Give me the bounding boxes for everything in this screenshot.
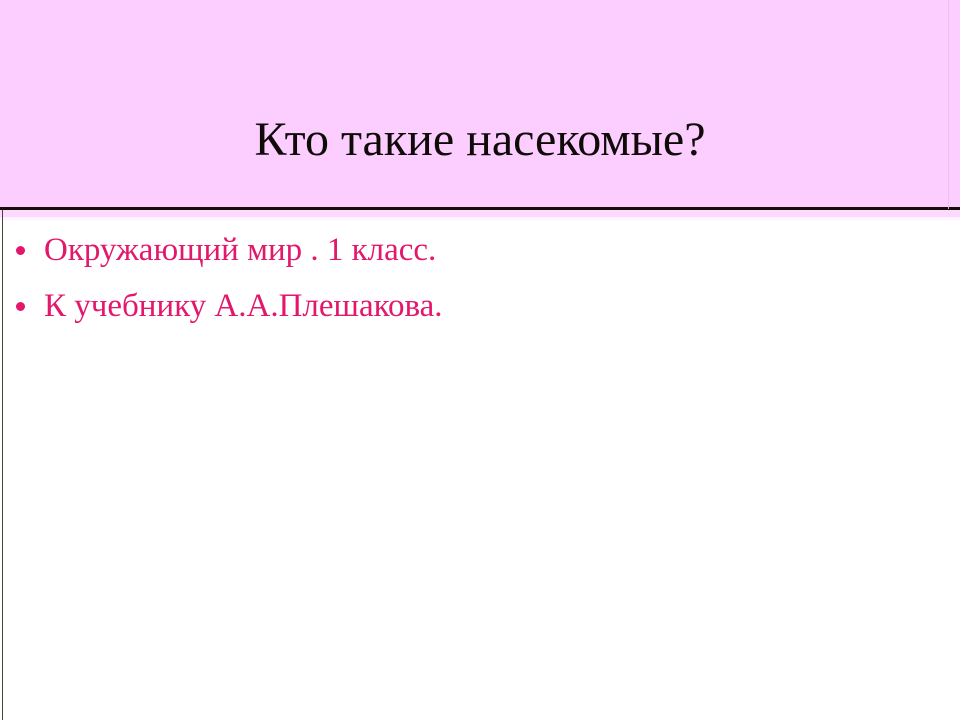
presentation-slide: Кто такие насекомые? Окружающий мир . 1 … (0, 0, 960, 720)
list-item: К учебнику А.А.Плешакова. (0, 278, 960, 334)
bullet-list: Окружающий мир . 1 класс. К учебнику А.А… (0, 222, 960, 334)
round-bullet-icon (16, 302, 25, 311)
slide-title-band: Кто такие насекомые? (0, 0, 960, 208)
round-bullet-icon (16, 246, 25, 255)
title-separator-accent-strip (0, 210, 960, 217)
page-title: Кто такие насекомые? (0, 111, 960, 169)
list-item: Окружающий мир . 1 класс. (0, 222, 960, 278)
slide-right-border (948, 0, 949, 209)
list-item-label: К учебнику А.А.Плешакова. (44, 288, 443, 324)
slide-body: Окружающий мир . 1 класс. К учебнику А.А… (0, 222, 960, 720)
list-item-label: Окружающий мир . 1 класс. (44, 232, 436, 268)
